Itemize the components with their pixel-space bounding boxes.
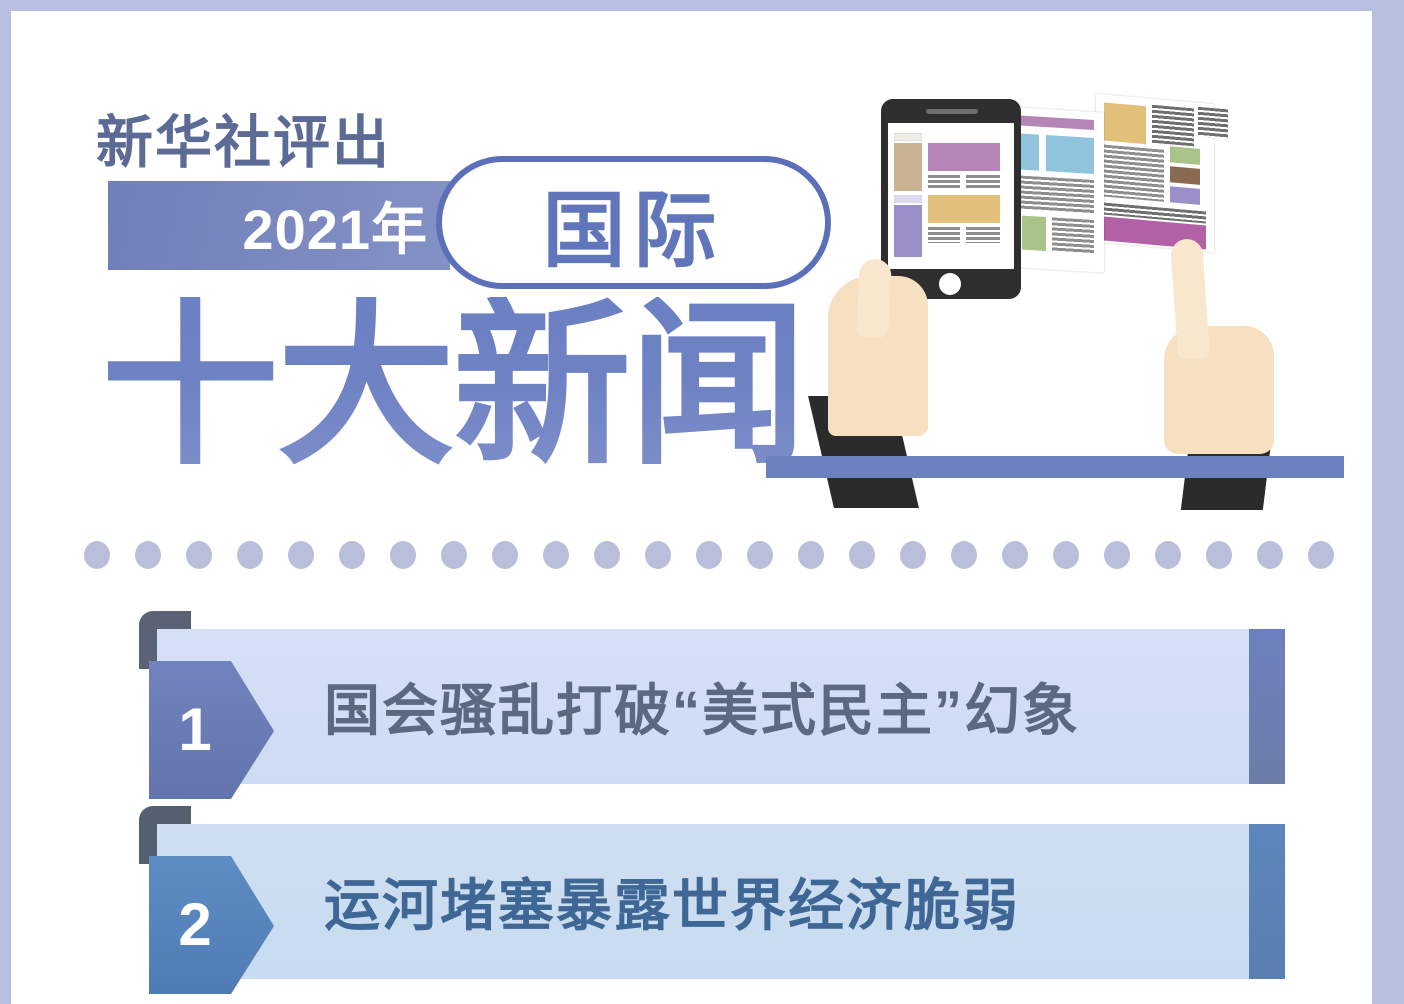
news-sheet-right [1096, 94, 1214, 252]
phone-home-button [939, 273, 961, 295]
sheet-block-gold [1104, 103, 1146, 145]
year-banner: 2021年 [108, 181, 450, 270]
header-section: 新华社评出 2021年 国际 十大新闻 [11, 11, 1372, 531]
sheet-lines-c [1102, 144, 1164, 201]
news-rank-number: 2 [149, 842, 241, 1004]
divider-dot [441, 541, 467, 569]
divider-dot [1206, 541, 1232, 569]
page-title: 十大新闻 [101, 297, 805, 475]
sheet-text-block-2 [1052, 217, 1094, 254]
infographic-page: 新华社评出 2021年 国际 十大新闻 [11, 11, 1372, 1004]
screen-block-mauve [928, 143, 1000, 171]
desk-bar [766, 456, 1344, 478]
divider-dot [390, 541, 416, 569]
screen-lines-b [966, 175, 1000, 189]
screen-block-gold [928, 195, 1000, 223]
news-list: 1国会骚乱打破“美式民主”幻象2运河堵塞暴露世界经济脆弱 [11, 611, 1372, 1001]
divider-dot [1053, 541, 1079, 569]
screen-lines-c [928, 227, 960, 243]
divider-dot [492, 541, 518, 569]
sheet-lines-b [1198, 107, 1228, 140]
divider-dot [798, 541, 824, 569]
divider-dot [696, 541, 722, 569]
news-rank-number: 1 [149, 647, 241, 812]
divider-dot [186, 541, 212, 569]
news-row[interactable]: 1国会骚乱打破“美式民主”幻象 [139, 611, 1372, 806]
divider-dot [951, 541, 977, 569]
hands-phone-news-illustration [766, 71, 1356, 491]
screen-block-sm [894, 195, 922, 203]
news-row-end-cap [1249, 824, 1285, 979]
screen-block-top [894, 133, 922, 141]
sheet-lines-a [1152, 105, 1194, 147]
news-row-end-cap [1249, 629, 1285, 784]
sheet-image-right [1046, 135, 1094, 174]
news-headline: 运河堵塞暴露世界经济脆弱 [324, 824, 1254, 979]
divider-dot [543, 541, 569, 569]
divider-dot [237, 541, 263, 569]
year-label: 2021年 [108, 181, 450, 270]
divider-dot [747, 541, 773, 569]
news-row[interactable]: 2运河堵塞暴露世界经济脆弱 [139, 806, 1372, 1001]
divider-dot [1257, 541, 1283, 569]
divider-dot [900, 541, 926, 569]
divider-dot [594, 541, 620, 569]
screen-lines-d [966, 227, 1000, 243]
divider-dot [1104, 541, 1130, 569]
divider-dot [1155, 541, 1181, 569]
divider-dot [288, 541, 314, 569]
divider-dot [1002, 541, 1028, 569]
phone-screen [888, 123, 1014, 269]
smartphone-icon [881, 99, 1021, 299]
divider-dot [849, 541, 875, 569]
sheet-block-green [1170, 146, 1200, 165]
screen-lines-a [928, 175, 960, 189]
sheet-block-violet [1170, 186, 1200, 205]
divider-dot [135, 541, 161, 569]
left-thumb [856, 258, 892, 338]
page-kicker: 新华社评出 [96, 97, 391, 179]
divider-dot [339, 541, 365, 569]
sheet-block-brown [1170, 166, 1200, 185]
phone-speaker [926, 109, 978, 114]
divider-dot [645, 541, 671, 569]
news-headline: 国会骚乱打破“美式民主”幻象 [324, 629, 1254, 784]
screen-block-sand [894, 143, 922, 191]
screen-block-violet [894, 205, 922, 257]
sheet-thumb-b [1022, 216, 1046, 251]
divider-dot [1308, 541, 1334, 569]
dot-divider [84, 541, 1334, 571]
divider-dot [84, 541, 110, 569]
